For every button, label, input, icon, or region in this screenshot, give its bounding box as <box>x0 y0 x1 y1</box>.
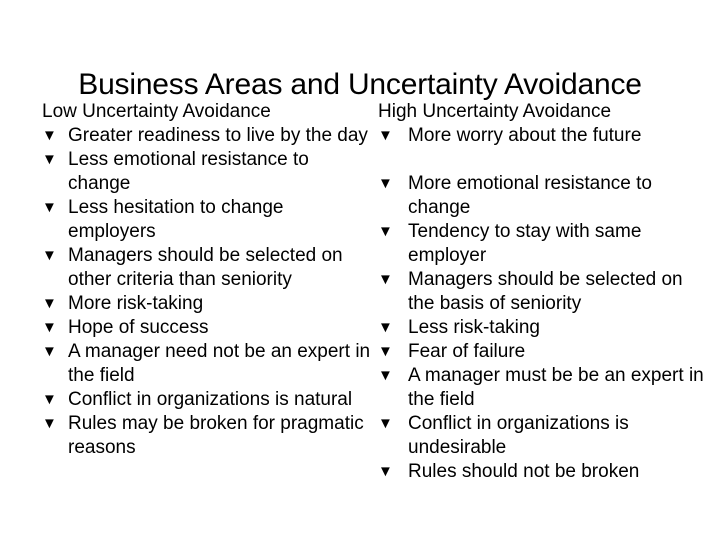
list-item-text: Less hesitation to change employers <box>68 196 374 244</box>
list-item: ▼ More worry about the future <box>378 124 708 148</box>
list-item: ▼ A manager must be be an expert in the … <box>378 364 708 412</box>
column-heading-high: High Uncertainty Avoidance <box>378 100 708 124</box>
list-item-text: Less risk-taking <box>408 316 708 340</box>
triangle-down-bullet-icon: ▼ <box>42 196 60 220</box>
list-item-text: A manager need not be an expert in the f… <box>68 340 374 388</box>
list-item-text: Less emotional resistance to change <box>68 148 374 196</box>
page-title: Business Areas and Uncertainty Avoidance <box>0 67 720 103</box>
triangle-down-bullet-icon: ▼ <box>42 340 60 364</box>
triangle-down-bullet-icon: ▼ <box>378 220 396 244</box>
triangle-down-bullet-icon: ▼ <box>42 316 60 340</box>
list-item: ▼ Conflict in organizations is natural <box>42 388 374 412</box>
list-item-text: More worry about the future <box>408 124 708 148</box>
triangle-down-bullet-icon: ▼ <box>378 268 396 292</box>
list-item: ▼ Rules may be broken for pragmatic reas… <box>42 412 374 460</box>
list-item: ▼ Managers should be selected on other c… <box>42 244 374 292</box>
list-item: ▼ Less risk-taking <box>378 316 708 340</box>
triangle-down-bullet-icon: ▼ <box>378 316 396 340</box>
list-item-text: Hope of success <box>68 316 374 340</box>
triangle-down-bullet-icon: ▼ <box>42 124 60 148</box>
list-item: ▼ More risk-taking <box>42 292 374 316</box>
triangle-down-bullet-icon: ▼ <box>42 412 60 436</box>
list-item: ▼ Hope of success <box>42 316 374 340</box>
list-item: ▼ Greater readiness to live by the day <box>42 124 374 148</box>
list-item: ▼ Less hesitation to change employers <box>42 196 374 244</box>
triangle-down-bullet-icon: ▼ <box>378 172 396 196</box>
list-item-text: Rules may be broken for pragmatic reason… <box>68 412 374 460</box>
list-item-text: Managers should be selected on other cri… <box>68 244 374 292</box>
list-item-text: Fear of failure <box>408 340 708 364</box>
triangle-down-bullet-icon: ▼ <box>42 292 60 316</box>
list-item: ▼ Fear of failure <box>378 340 708 364</box>
list-item-text: Greater readiness to live by the day <box>68 124 374 148</box>
list-item: ▼ Less emotional resistance to change <box>42 148 374 196</box>
triangle-down-bullet-icon: ▼ <box>378 124 396 148</box>
triangle-down-bullet-icon: ▼ <box>42 148 60 172</box>
list-item-text: A manager must be be an expert in the fi… <box>408 364 708 412</box>
list-item-text: Managers should be selected on the basis… <box>408 268 708 316</box>
list-item-text: Conflict in organizations is undesirable <box>408 412 708 460</box>
triangle-down-bullet-icon: ▼ <box>378 460 396 484</box>
list-item: ▼ Managers should be selected on the bas… <box>378 268 708 316</box>
column-low-uncertainty-avoidance: Low Uncertainty Avoidance ▼ Greater read… <box>42 100 374 460</box>
triangle-down-bullet-icon: ▼ <box>378 412 396 436</box>
list-item: ▼ Conflict in organizations is undesirab… <box>378 412 708 460</box>
column-high-uncertainty-avoidance: High Uncertainty Avoidance ▼ More worry … <box>378 100 708 484</box>
list-item: ▼ Rules should not be broken <box>378 460 708 484</box>
triangle-down-bullet-icon: ▼ <box>42 388 60 412</box>
bullet-list-high: ▼ More worry about the future ▼ More emo… <box>378 124 708 484</box>
triangle-down-bullet-icon: ▼ <box>378 340 396 364</box>
list-item-text: More risk-taking <box>68 292 374 316</box>
list-item-text: Rules should not be broken <box>408 460 708 484</box>
triangle-down-bullet-icon: ▼ <box>42 244 60 268</box>
list-item: ▼ Tendency to stay with same employer <box>378 220 708 268</box>
list-item: ▼ A manager need not be an expert in the… <box>42 340 374 388</box>
column-heading-low: Low Uncertainty Avoidance <box>42 100 374 124</box>
triangle-down-bullet-icon: ▼ <box>378 364 396 388</box>
bullet-list-low: ▼ Greater readiness to live by the day ▼… <box>42 124 374 460</box>
slide-canvas: Business Areas and Uncertainty Avoidance… <box>0 0 720 540</box>
list-item-text: Conflict in organizations is natural <box>68 388 374 412</box>
list-item-text: Tendency to stay with same employer <box>408 220 708 268</box>
list-item-text: More emotional resistance to change <box>408 172 708 220</box>
list-item: ▼ More emotional resistance to change <box>378 172 708 220</box>
